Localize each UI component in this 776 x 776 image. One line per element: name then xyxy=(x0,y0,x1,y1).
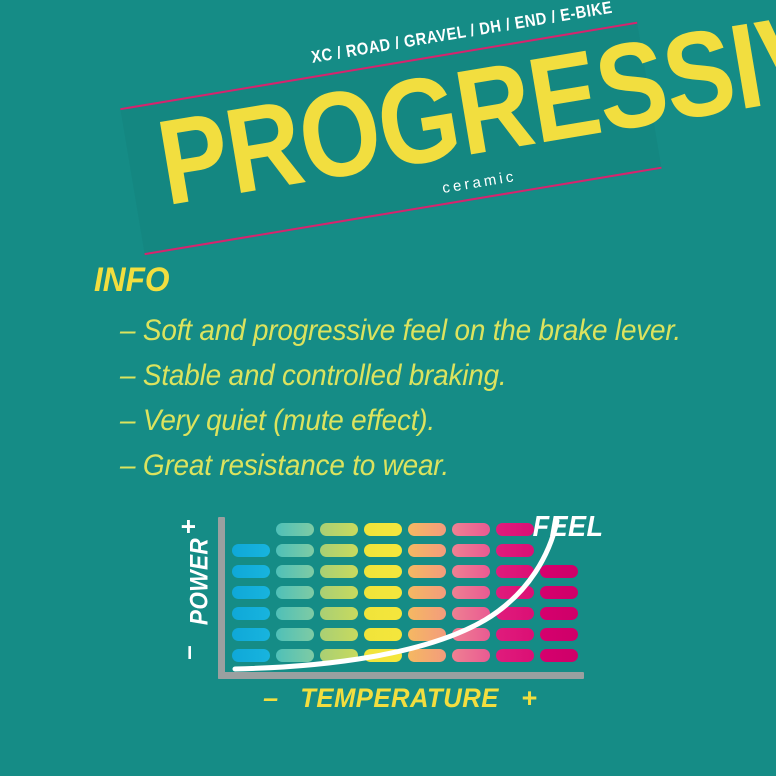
chart-pill xyxy=(320,565,358,578)
brand-lockup: XC / ROAD / GRAVEL / DH / END / E-BIKE P… xyxy=(150,28,630,238)
chart-pill-row xyxy=(232,628,584,641)
chart-pill xyxy=(276,628,314,641)
chart-pill xyxy=(364,523,402,536)
chart-pill xyxy=(276,523,314,536)
chart-pill xyxy=(540,565,578,578)
chart-pill xyxy=(452,523,490,536)
poster-root: XC / ROAD / GRAVEL / DH / END / E-BIKE P… xyxy=(0,0,776,776)
chart-pill xyxy=(540,649,578,662)
chart-pill xyxy=(232,649,270,662)
chart-pill xyxy=(408,649,446,662)
chart-pill xyxy=(276,607,314,620)
brand-lockup-rotated: XC / ROAD / GRAVEL / DH / END / E-BIKE P… xyxy=(136,0,644,276)
chart-pill xyxy=(320,649,358,662)
chart-pill xyxy=(364,565,402,578)
chart-pill xyxy=(496,649,534,662)
y-axis-label: POWER xyxy=(186,519,215,645)
chart-pill xyxy=(408,544,446,557)
chart-pill-row xyxy=(232,544,584,557)
chart-pill-grid xyxy=(232,523,584,671)
chart-pill xyxy=(452,544,490,557)
chart-pill xyxy=(408,586,446,599)
chart-pill-row xyxy=(232,565,584,578)
chart-pill xyxy=(408,565,446,578)
chart-pill xyxy=(496,586,534,599)
info-heading: INFO xyxy=(94,262,671,298)
power-temperature-chart: + POWER – FEEL – TEMPERATURE + xyxy=(175,505,605,720)
chart-pill xyxy=(540,607,578,620)
chart-pill xyxy=(496,628,534,641)
chart-pill xyxy=(276,586,314,599)
chart-pill xyxy=(496,607,534,620)
chart-pill xyxy=(276,544,314,557)
chart-pill xyxy=(452,565,490,578)
chart-pill xyxy=(320,544,358,557)
chart-pill xyxy=(364,628,402,641)
chart-pill xyxy=(276,649,314,662)
chart-pill-row xyxy=(232,607,584,620)
chart-pill xyxy=(232,544,270,557)
chart-pill xyxy=(320,586,358,599)
chart-pill xyxy=(452,649,490,662)
chart-pill xyxy=(408,523,446,536)
chart-pill-row xyxy=(232,523,584,536)
chart-pill xyxy=(364,607,402,620)
y-axis-minus-sign: – xyxy=(173,645,204,659)
info-list-item: – Great resistance to wear. xyxy=(94,443,671,488)
x-axis-minus-sign: – xyxy=(263,683,278,714)
info-list-item: – Very quiet (mute effect). xyxy=(94,398,671,443)
chart-pill xyxy=(496,523,534,536)
chart-pill xyxy=(232,628,270,641)
chart-pill xyxy=(232,565,270,578)
chart-pill xyxy=(364,586,402,599)
chart-pill xyxy=(276,565,314,578)
feel-curve-label: FEEL xyxy=(533,511,604,544)
chart-x-axis xyxy=(218,672,584,679)
x-axis-plus-sign: + xyxy=(521,683,537,714)
chart-pill xyxy=(452,586,490,599)
chart-pill xyxy=(496,565,534,578)
x-axis-label: TEMPERATURE xyxy=(300,683,499,714)
chart-pill xyxy=(320,607,358,620)
chart-pill xyxy=(452,607,490,620)
chart-pill xyxy=(496,544,534,557)
chart-y-axis xyxy=(218,517,225,679)
info-list-item: – Stable and controlled braking. xyxy=(94,353,671,398)
chart-pill xyxy=(232,586,270,599)
info-list-item: – Soft and progressive feel on the brake… xyxy=(94,308,671,353)
chart-pill xyxy=(320,628,358,641)
chart-pill xyxy=(408,607,446,620)
chart-pill xyxy=(364,544,402,557)
chart-pill xyxy=(452,628,490,641)
chart-pill xyxy=(364,649,402,662)
chart-pill-empty xyxy=(232,523,270,536)
chart-pill-row xyxy=(232,586,584,599)
chart-pill xyxy=(408,628,446,641)
chart-pill xyxy=(320,523,358,536)
chart-pill xyxy=(540,628,578,641)
chart-pill xyxy=(232,607,270,620)
info-list: – Soft and progressive feel on the brake… xyxy=(94,308,714,488)
chart-pill-empty xyxy=(540,544,578,557)
chart-pill-row xyxy=(232,649,584,662)
chart-pill xyxy=(540,586,578,599)
info-section: INFO – Soft and progressive feel on the … xyxy=(94,262,714,488)
x-axis-label-row: – TEMPERATURE + xyxy=(215,683,585,714)
